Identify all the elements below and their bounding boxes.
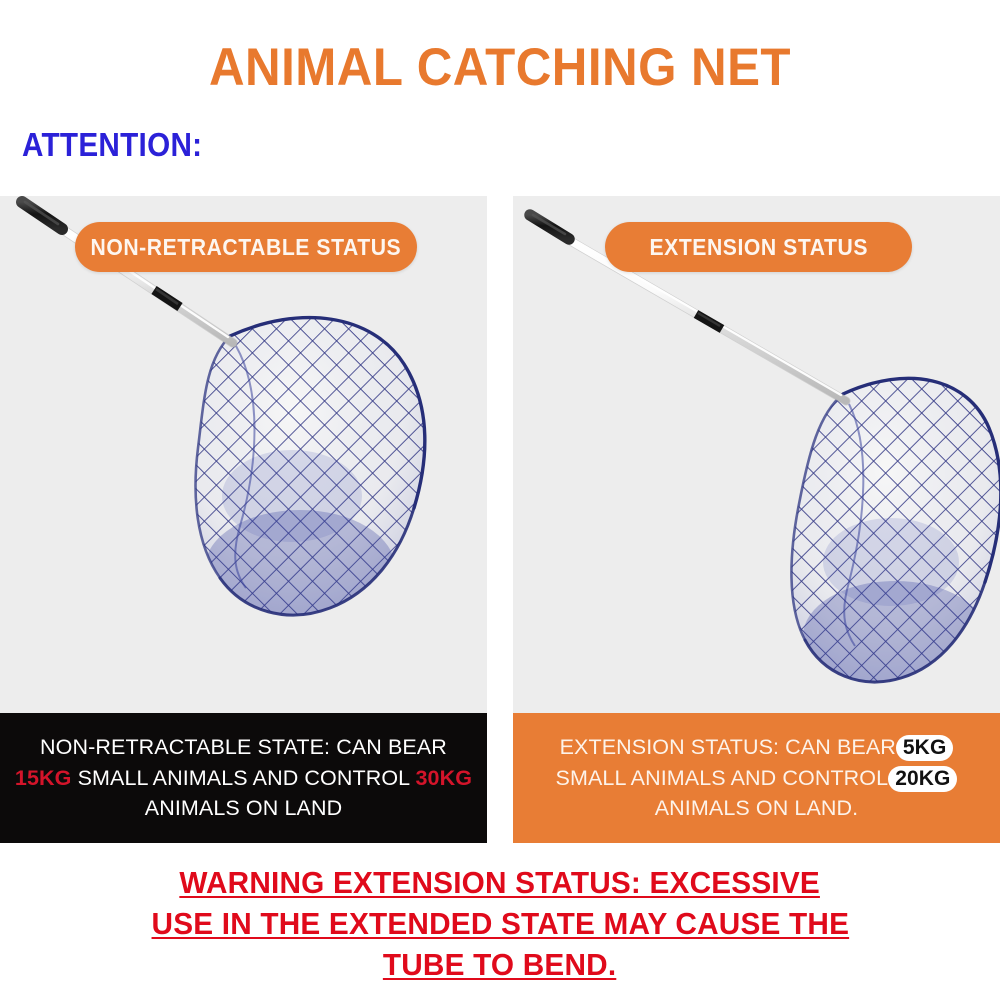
- net-bag: [773, 356, 1000, 706]
- status-badge-label: EXTENSION STATUS: [649, 234, 868, 261]
- attention-label: ATTENTION:: [22, 126, 202, 164]
- caption-line-2-mid: SMALL ANIMALS AND CONTROL: [556, 766, 889, 790]
- weight-bear-value: 5KG: [896, 735, 953, 761]
- caption-line-2-mid: SMALL ANIMALS AND CONTROL: [78, 766, 410, 790]
- caption-line-1: NON-RETRACTABLE STATE: CAN BEAR: [40, 735, 447, 759]
- warning-line-1: WARNING EXTENSION STATUS: EXCESSIVE: [180, 862, 821, 903]
- page-title: ANIMAL CATCHING NET: [35, 40, 965, 96]
- weight-bear-value: 15KG: [15, 766, 72, 790]
- net-bag: [180, 296, 460, 636]
- warning-text: WARNING EXTENSION STATUS: EXCESSIVE USE …: [0, 862, 1000, 986]
- weight-control-value: 30KG: [416, 766, 473, 790]
- pole-collar: [696, 313, 722, 329]
- warning-line-2: USE IN THE EXTENDED STATE MAY CAUSE THE: [151, 903, 849, 944]
- caption-text: NON-RETRACTABLE STATE: CAN BEAR 15KG SMA…: [15, 732, 472, 824]
- status-badge-non-retractable: NON-RETRACTABLE STATUS: [75, 222, 417, 272]
- caption-line-3: ANIMALS ON LAND: [145, 796, 342, 820]
- status-badge-extension: EXTENSION STATUS: [605, 222, 912, 272]
- caption-line-1: EXTENSION STATUS: CAN BEAR: [560, 735, 896, 759]
- weight-control-value: 20KG: [888, 766, 957, 792]
- caption-panel-extension: EXTENSION STATUS: CAN BEAR5KG SMALL ANIM…: [513, 713, 1000, 843]
- caption-text: EXTENSION STATUS: CAN BEAR5KG SMALL ANIM…: [556, 732, 958, 824]
- product-photo-panel-non-retractable: [0, 196, 487, 713]
- extension-net-illustration: [513, 196, 1000, 713]
- caption-line-3: ANIMALS ON LAND.: [655, 796, 859, 820]
- status-badge-label: NON-RETRACTABLE STATUS: [91, 234, 402, 261]
- caption-panel-non-retractable: NON-RETRACTABLE STATE: CAN BEAR 15KG SMA…: [0, 713, 487, 843]
- non-retractable-net-illustration: [0, 196, 487, 713]
- handle-grip: [22, 202, 62, 229]
- product-photo-panel-extension: [513, 196, 1000, 713]
- warning-line-3: TUBE TO BEND.: [383, 944, 616, 985]
- handle-grip: [530, 215, 569, 239]
